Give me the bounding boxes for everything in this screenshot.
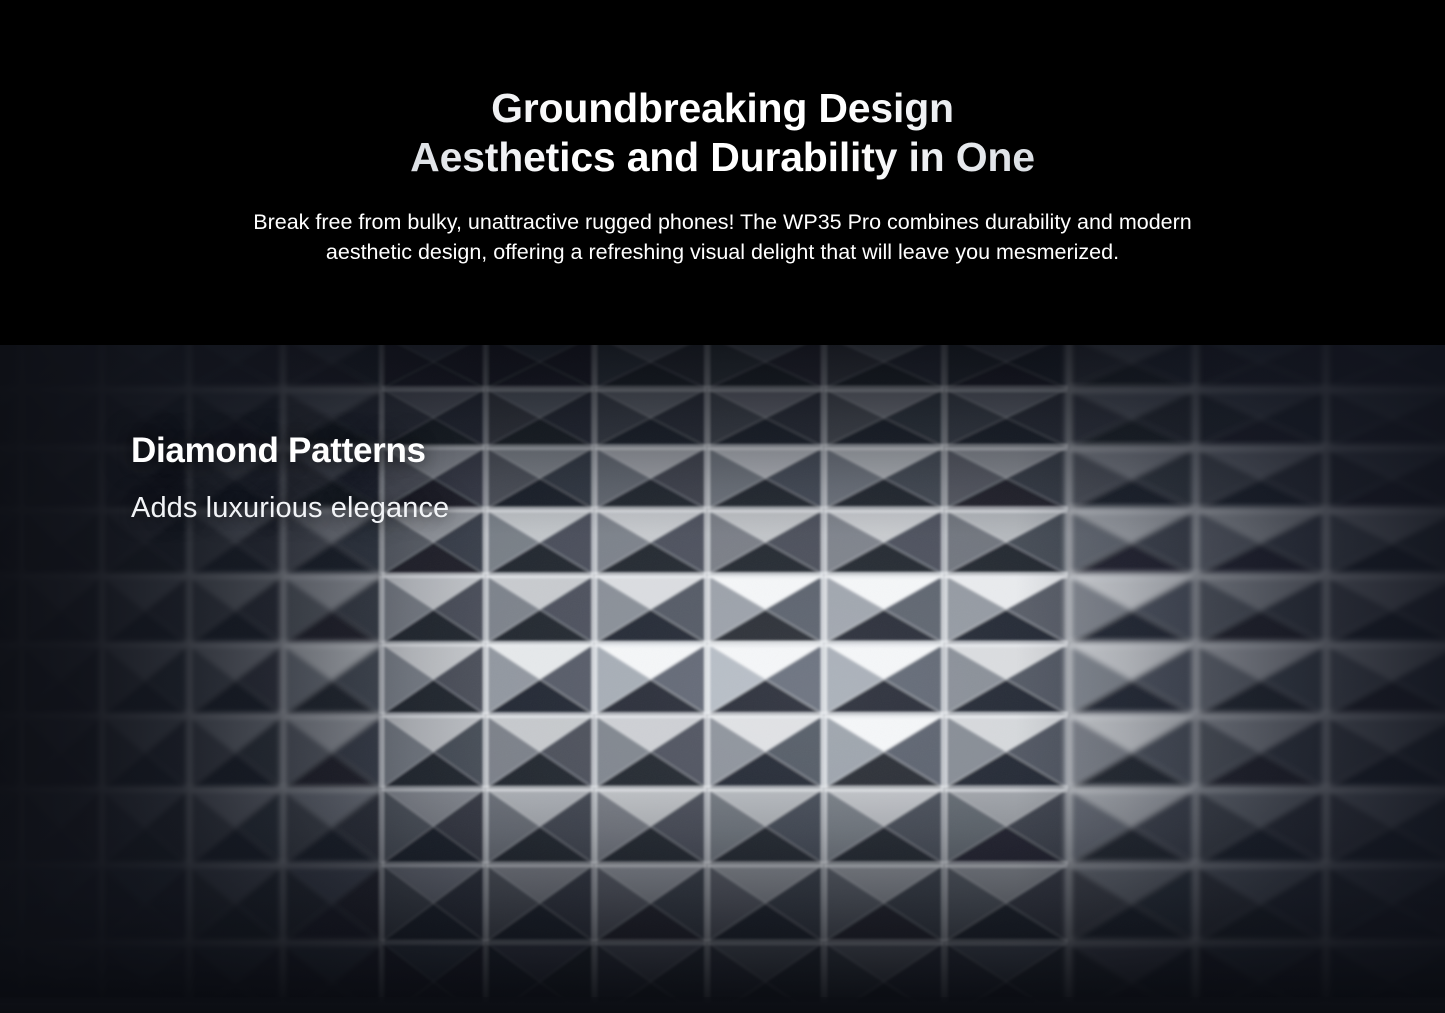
header-section: Groundbreaking Design Aesthetics and Dur… (0, 0, 1445, 345)
headline-line-2: Aesthetics and Durability in One (0, 133, 1445, 182)
diamond-texture-photo: Diamond Patterns Adds luxurious elegance (0, 345, 1445, 1013)
headline-line-1: Groundbreaking Design (0, 84, 1445, 133)
feature-caption-block: Diamond Patterns Adds luxurious elegance (131, 430, 449, 526)
feature-title: Diamond Patterns (131, 430, 449, 472)
header-subtitle: Break free from bulky, unattractive rugg… (218, 208, 1228, 267)
product-feature-page: Groundbreaking Design Aesthetics and Dur… (0, 0, 1445, 1013)
feature-subtitle: Adds luxurious elegance (131, 490, 449, 526)
page-headline: Groundbreaking Design Aesthetics and Dur… (0, 84, 1445, 182)
